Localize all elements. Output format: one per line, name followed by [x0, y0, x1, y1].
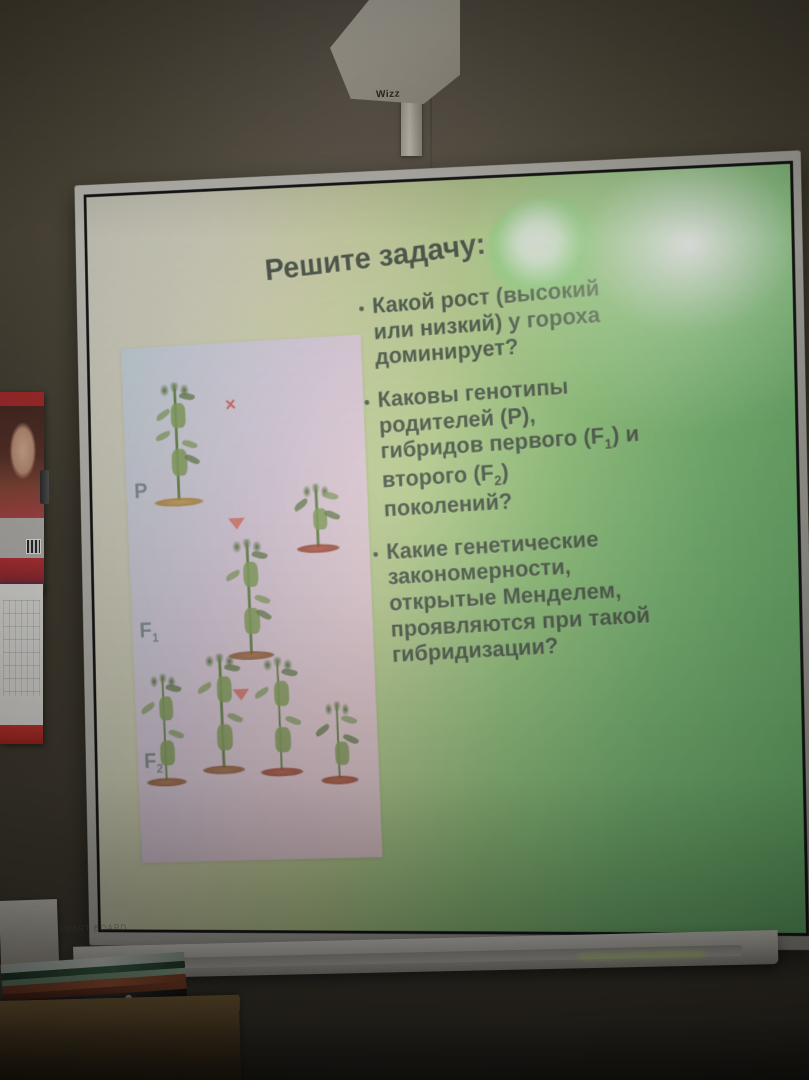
classroom-photo: Wizz Решите задачу: P F1 F2 ×: [0, 0, 809, 1080]
wall-shading: [0, 0, 809, 1080]
